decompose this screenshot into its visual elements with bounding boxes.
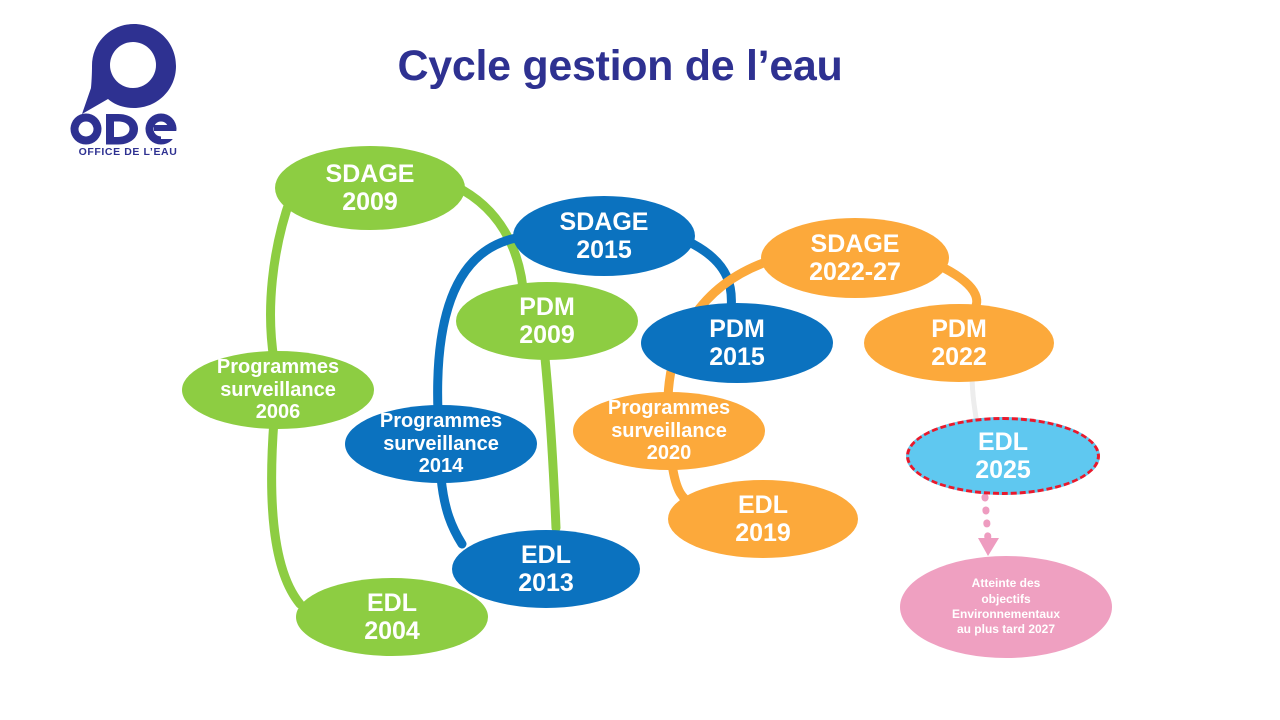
- slide-canvas: OFFICE DE L’EAU MARTINIQUE Cycle gestion…: [0, 0, 1280, 720]
- connector-sdage2009-to-ps2006: [271, 197, 291, 360]
- node-pdm-2009[interactable]: PDM 2009: [456, 282, 638, 360]
- node-pdm-2015[interactable]: PDM 2015: [641, 303, 833, 383]
- node-label-line: Environnementaux: [952, 607, 1060, 622]
- connector-pdm2009-down: [545, 358, 556, 528]
- node-programmes-surveillance-2006[interactable]: Programmes surveillance 2006: [182, 351, 374, 429]
- connector-edl2025-to-objectifs2027: [978, 497, 999, 556]
- node-label-line: 2020: [647, 442, 692, 465]
- node-label-line: au plus tard 2027: [957, 622, 1055, 637]
- node-label-line: 2015: [576, 236, 632, 265]
- node-edl-2025[interactable]: EDL 2025: [906, 417, 1100, 495]
- node-label-line: 2014: [419, 455, 464, 478]
- node-programmes-surveillance-2014[interactable]: Programmes surveillance 2014: [345, 405, 537, 483]
- node-label-line: 2019: [735, 519, 791, 548]
- connector-ps2006-to-edl2004: [272, 420, 300, 604]
- node-label-line: 2022-27: [809, 258, 901, 287]
- node-sdage-2022-27[interactable]: SDAGE 2022-27: [761, 218, 949, 298]
- node-label-line: surveillance: [383, 433, 499, 456]
- node-label-line: surveillance: [611, 420, 727, 443]
- node-objectifs-2027[interactable]: Atteinte des objectifs Environnementaux …: [900, 556, 1112, 658]
- node-sdage-2015[interactable]: SDAGE 2015: [513, 196, 695, 276]
- node-label-line: SDAGE: [560, 208, 649, 237]
- node-label-line: EDL: [521, 541, 571, 570]
- connector-ps2014-to-edl2013: [441, 477, 462, 544]
- node-label-line: SDAGE: [811, 230, 900, 259]
- node-label-line: 2006: [256, 401, 301, 424]
- node-label-line: PDM: [709, 315, 765, 344]
- node-label-line: 2022: [931, 343, 987, 372]
- node-label-line: Programmes: [608, 397, 730, 420]
- node-label-line: EDL: [978, 428, 1028, 457]
- node-label-line: 2009: [342, 188, 398, 217]
- node-label-line: EDL: [738, 491, 788, 520]
- node-label-line: SDAGE: [326, 160, 415, 189]
- node-label-line: PDM: [931, 315, 987, 344]
- node-label-line: PDM: [519, 293, 575, 322]
- node-label-line: 2025: [975, 456, 1031, 485]
- node-edl-2004[interactable]: EDL 2004: [296, 578, 488, 656]
- node-label-line: 2009: [519, 321, 575, 350]
- node-pdm-2022[interactable]: PDM 2022: [864, 304, 1054, 382]
- node-label-line: Atteinte des: [972, 576, 1041, 591]
- node-edl-2019[interactable]: EDL 2019: [668, 480, 858, 558]
- node-label-line: 2013: [518, 569, 574, 598]
- node-edl-2013[interactable]: EDL 2013: [452, 530, 640, 608]
- node-label-line: 2004: [364, 617, 420, 646]
- node-label-line: Programmes: [217, 356, 339, 379]
- node-label-line: 2015: [709, 343, 765, 372]
- node-label-line: objectifs: [981, 592, 1030, 607]
- node-label-line: EDL: [367, 589, 417, 618]
- node-label-line: Programmes: [380, 410, 502, 433]
- node-label-line: surveillance: [220, 379, 336, 402]
- node-programmes-surveillance-2020[interactable]: Programmes surveillance 2020: [573, 392, 765, 470]
- node-sdage-2009[interactable]: SDAGE 2009: [275, 146, 465, 230]
